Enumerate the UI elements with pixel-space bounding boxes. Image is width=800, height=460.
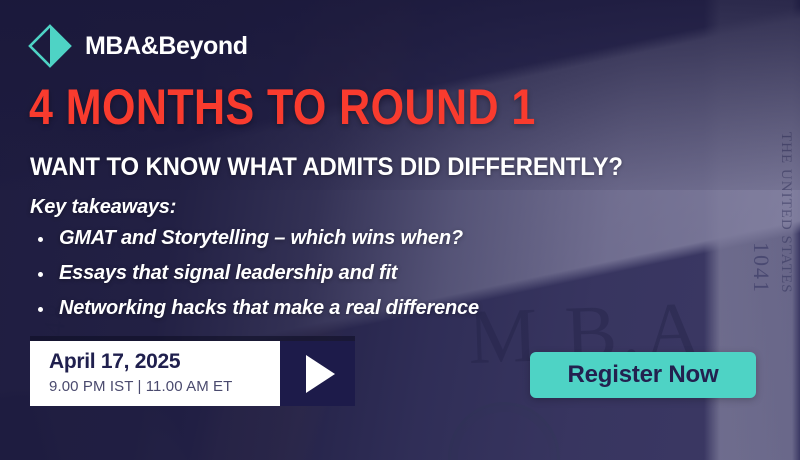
play-button[interactable] xyxy=(280,341,355,406)
list-item: Essays that signal leadership and fit xyxy=(30,263,479,284)
headline: 4 MONTHS TO ROUND 1 xyxy=(29,82,536,132)
event-date: April 17, 2025 xyxy=(49,350,280,374)
takeaways-section: Key takeaways: GMAT and Storytelling – w… xyxy=(30,196,479,333)
brand-name: MBA&Beyond xyxy=(85,32,248,61)
subheadline: WANT TO KNOW WHAT ADMITS DID DIFFERENTLY… xyxy=(30,155,623,180)
banner-content: MBA&Beyond 4 MONTHS TO ROUND 1 WANT TO K… xyxy=(0,0,800,460)
diamond-logo-icon xyxy=(27,23,73,69)
play-triangle-icon xyxy=(306,355,335,393)
event-time: 9.00 PM IST | 11.00 AM ET xyxy=(49,377,280,397)
takeaways-list: GMAT and Storytelling – which wins when?… xyxy=(30,228,479,319)
event-date-card: April 17, 2025 9.00 PM IST | 11.00 AM ET xyxy=(30,341,280,406)
event-bar-accent-strip xyxy=(30,336,355,341)
list-item: Networking hacks that make a real differ… xyxy=(30,298,479,319)
promo-banner: M.B.A 8048 THE UNITED STATES 1041 MBA&Be… xyxy=(0,0,800,460)
brand-logo[interactable]: MBA&Beyond xyxy=(27,23,248,69)
takeaways-title: Key takeaways: xyxy=(30,196,479,218)
event-bar: April 17, 2025 9.00 PM IST | 11.00 AM ET xyxy=(30,336,355,406)
list-item: GMAT and Storytelling – which wins when? xyxy=(30,228,479,249)
register-now-button[interactable]: Register Now xyxy=(530,352,756,398)
